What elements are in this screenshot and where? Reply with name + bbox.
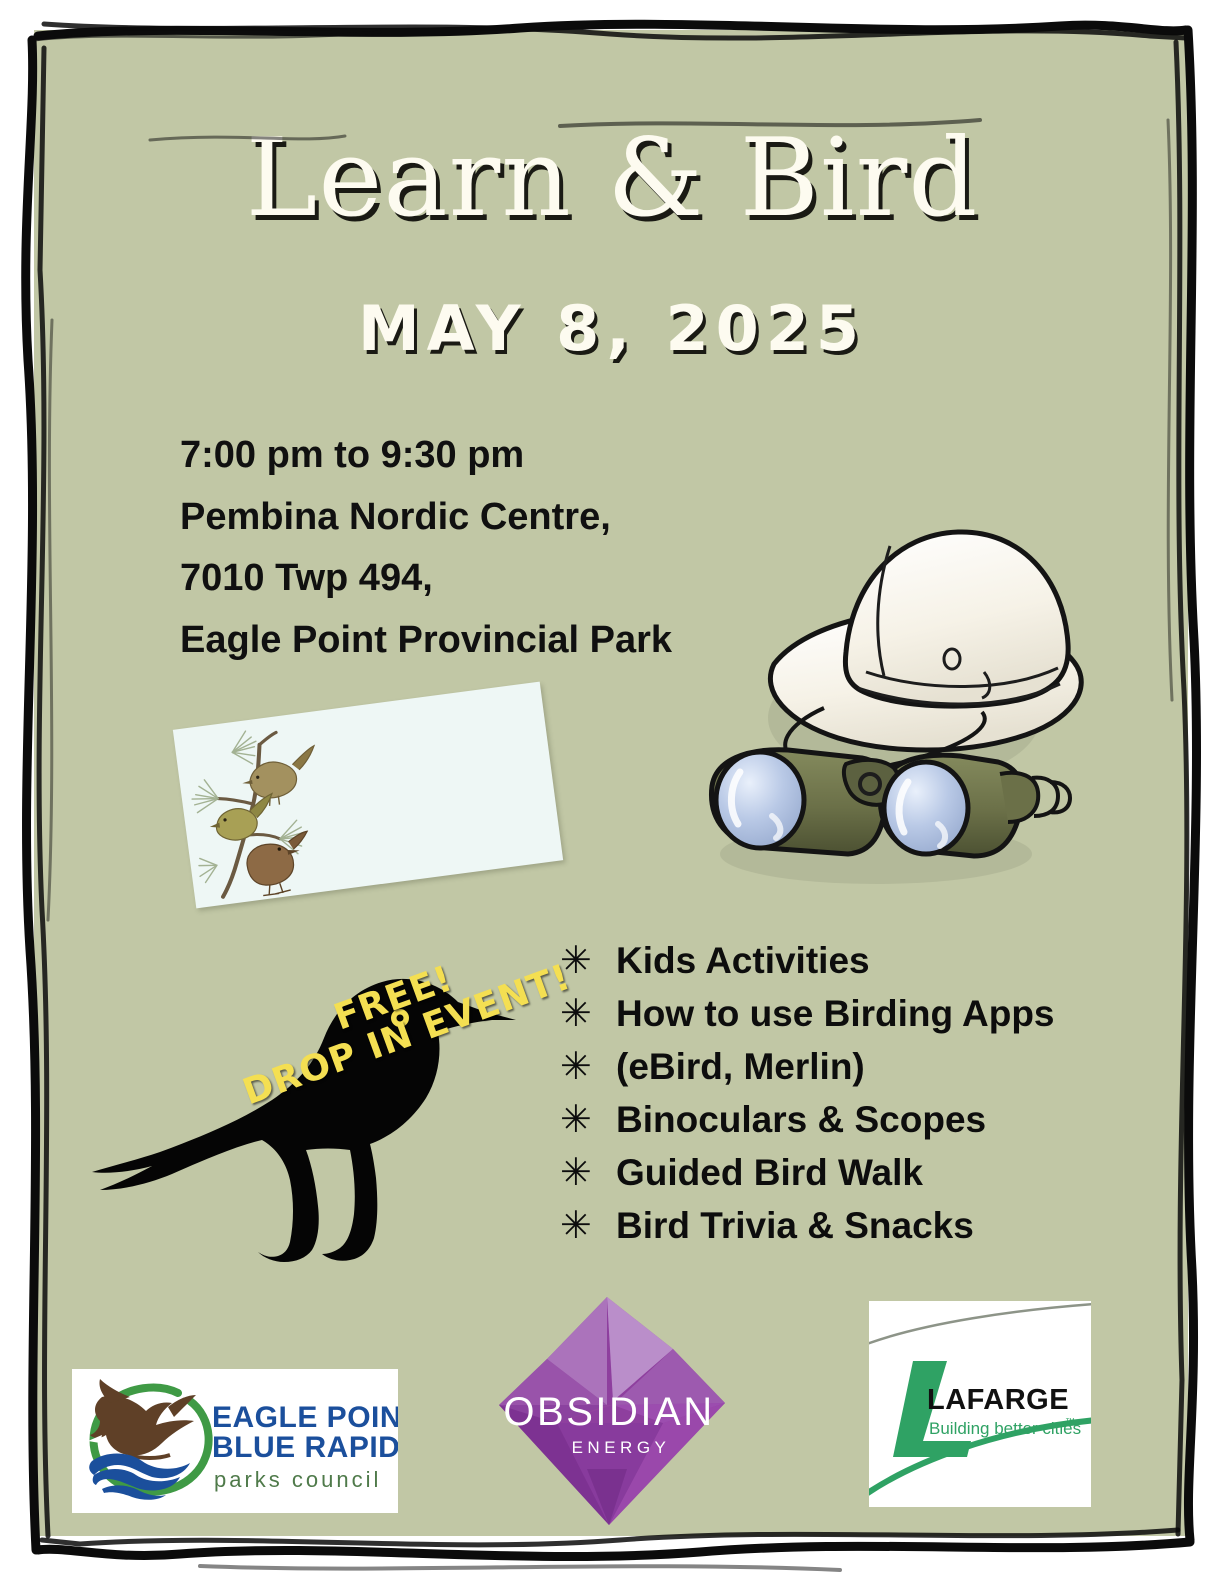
obsidian-gem-artwork: OBSIDIAN ENERGY [487, 1293, 732, 1528]
list-item: ✳ (eBird, Merlin) [560, 1044, 1055, 1097]
asterisk-icon: ✳ [560, 991, 616, 1035]
obsidian-energy-sublabel: ENERGY [572, 1438, 671, 1457]
lafarge-wordmark: LAFARGE [927, 1384, 1069, 1416]
activity-label: Kids Activities [616, 940, 870, 982]
lafarge-tagline: Building better cities [929, 1419, 1081, 1438]
activity-label: How to use Birding Apps [616, 993, 1055, 1035]
eagle-point-logo-artwork: EAGLE POINT BLUE RAPIDS parks council [72, 1369, 398, 1513]
activity-label: Bird Trivia & Snacks [616, 1205, 974, 1247]
lafarge-trademark: ™ [1065, 1417, 1075, 1428]
crow-silhouette-illustration [86, 960, 536, 1270]
eagle-point-line1: EAGLE POINT [212, 1401, 398, 1434]
eagle-point-line3: parks council [214, 1467, 381, 1492]
asterisk-icon: ✳ [560, 1150, 616, 1194]
sponsor-logo-obsidian-energy: OBSIDIAN ENERGY [487, 1293, 732, 1528]
list-item: ✳ Guided Bird Walk [560, 1150, 1055, 1203]
activity-label: (eBird, Merlin) [616, 1046, 865, 1088]
sponsor-logo-eagle-point-blue-rapids: EAGLE POINT BLUE RAPIDS parks council [72, 1369, 398, 1513]
activities-list: ✳ Kids Activities ✳ How to use Birding A… [560, 938, 1055, 1256]
sponsor-logo-lafarge: LAFARGE Building better cities ™ [869, 1301, 1091, 1507]
list-item: ✳ How to use Birding Apps [560, 991, 1055, 1044]
eagle-point-line2: BLUE RAPIDS [212, 1431, 398, 1464]
activity-label: Binoculars & Scopes [616, 1099, 986, 1141]
list-item: ✳ Kids Activities [560, 938, 1055, 991]
asterisk-icon: ✳ [560, 1203, 616, 1247]
lafarge-logo-artwork: LAFARGE Building better cities ™ [869, 1301, 1091, 1507]
asterisk-icon: ✳ [560, 938, 616, 982]
asterisk-icon: ✳ [560, 1097, 616, 1141]
poster-date: MAY 8, 2025 [0, 292, 1224, 365]
list-item: ✳ Binoculars & Scopes [560, 1097, 1055, 1150]
asterisk-icon: ✳ [560, 1044, 616, 1088]
watercolor-birds-branch-illustration [180, 714, 391, 907]
poster-title: Learn & Bird [0, 122, 1224, 235]
obsidian-wordmark: OBSIDIAN [503, 1390, 714, 1434]
activity-label: Guided Bird Walk [616, 1152, 923, 1194]
hat-and-binoculars-illustration [676, 486, 1096, 896]
list-item: ✳ Bird Trivia & Snacks [560, 1203, 1055, 1256]
event-time: 7:00 pm to 9:30 pm [180, 425, 780, 487]
poster-root: Learn & Bird MAY 8, 2025 7:00 pm to 9:30… [0, 0, 1224, 1584]
